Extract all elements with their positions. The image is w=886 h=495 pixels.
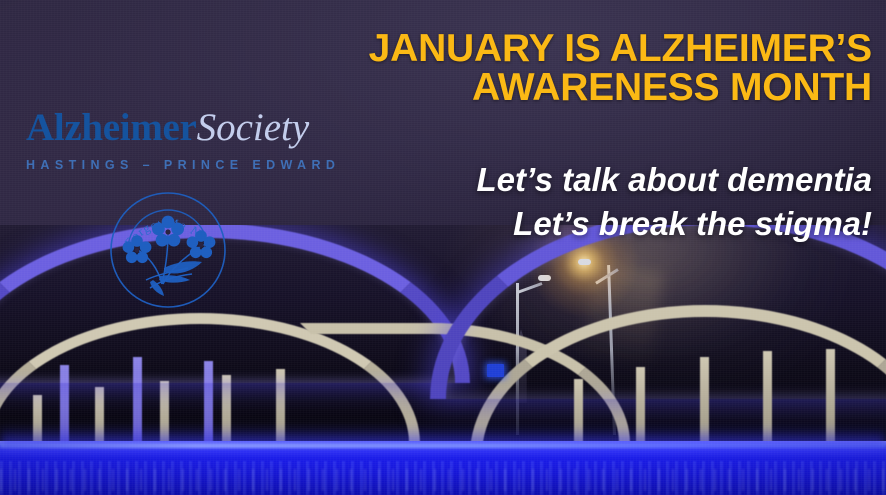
tagline-line-1: Let’s talk about dementia [477,158,872,202]
logo-word-society: Society [197,106,310,149]
emblem-leaves [150,261,202,296]
poster-canvas: JANUARY IS ALZHEIMER’S AWARENESS MONTH L… [0,0,886,495]
forget-me-not-emblem: Forget Me Not [106,188,230,312]
headline-line-2: AWARENESS MONTH [0,69,872,108]
logo-chapter-name: HASTINGS – PRINCE EDWARD [26,158,326,172]
alzheimer-society-logo: AlzheimerSociety HASTINGS – PRINCE EDWAR… [26,108,326,172]
bridge-blue-sign [487,364,504,377]
emblem-flowers [123,216,216,264]
blue-light-band [0,441,886,495]
page-title: JANUARY IS ALZHEIMER’S AWARENESS MONTH [0,30,872,107]
tagline-line-2: Let’s break the stigma! [477,202,872,246]
headline-line-1: JANUARY IS ALZHEIMER’S [0,30,872,69]
logo-wordmark: AlzheimerSociety [26,108,326,149]
water-ripples-fine [0,469,886,491]
logo-word-alzheimer: Alzheimer [26,106,197,149]
tagline: Let’s talk about dementia Let’s break th… [477,158,872,246]
